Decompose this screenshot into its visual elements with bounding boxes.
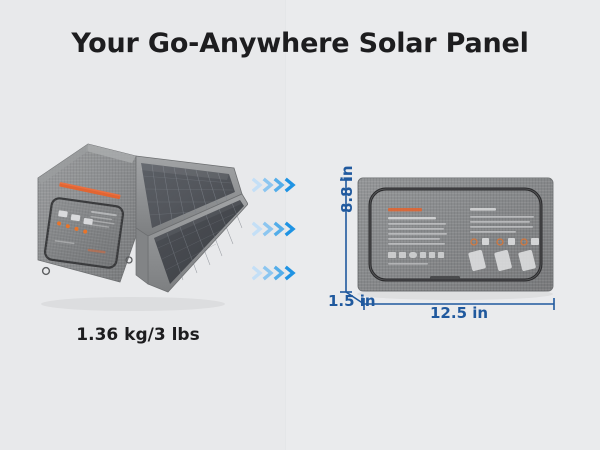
page-title: Your Go-Anywhere Solar Panel (0, 28, 600, 59)
chevron-icon (254, 224, 260, 234)
chevron-icon (265, 224, 271, 234)
control-panel-pocket (44, 197, 124, 268)
chevron-icon (254, 268, 260, 278)
panel-shadow (41, 297, 225, 311)
arrow-row (252, 220, 314, 238)
arrow-row (252, 264, 314, 282)
chevron-icon (276, 268, 282, 278)
unfolded-solar-panel-image (28, 132, 248, 312)
arrow-row (252, 176, 314, 194)
chevron-icon (287, 268, 293, 278)
chevron-icon (254, 180, 260, 190)
chevron-icon (265, 268, 271, 278)
height-dimension-label: 8.8 in (338, 165, 356, 213)
chevron-icon (276, 180, 282, 190)
fold-arrows-group (252, 172, 322, 290)
chevron-icon (276, 224, 282, 234)
grommet-icon (43, 268, 50, 275)
depth-dimension-label: 1.5 in (328, 292, 376, 310)
chevron-icon (265, 180, 271, 190)
width-dimension-label: 12.5 in (430, 304, 488, 322)
chevron-icon (287, 224, 293, 234)
panel-hinge (136, 228, 148, 284)
weight-label: 1.36 kg/3 lbs (28, 325, 248, 345)
chevron-icon (287, 180, 293, 190)
product-infographic: Your Go-Anywhere Solar Panel (0, 0, 600, 450)
